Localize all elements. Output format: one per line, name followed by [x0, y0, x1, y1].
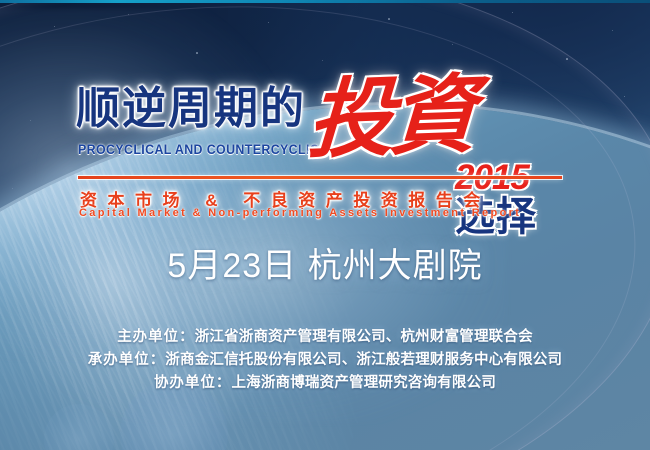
organizer-label: 承办单位：: [88, 352, 166, 368]
main-title: 顺逆周期的: [76, 84, 306, 134]
organizer-row: 主办单位：浙江省浙商资产管理有限公司、杭州财富管理联合会: [0, 326, 650, 349]
calligraphy-title: 投資: [305, 67, 474, 169]
organizer-list: 主办单位：浙江省浙商资产管理有限公司、杭州财富管理联合会 承办单位：浙商金汇信托…: [0, 326, 650, 395]
headline-block: 顺逆周期的 PROCYCLICAL AND COUNTERCYCLICAL 投資…: [0, 78, 650, 170]
organizer-label: 主办单位：: [117, 329, 195, 345]
english-subtitle: PROCYCLICAL AND COUNTERCYCLICAL: [78, 142, 336, 157]
organizer-value: 上海浙商博瑞资产管理研究咨询有限公司: [231, 375, 496, 391]
poster-content: 顺逆周期的 PROCYCLICAL AND COUNTERCYCLICAL 投資…: [0, 0, 650, 450]
organizer-row: 协办单位：上海浙商博瑞资产管理研究咨询有限公司: [0, 372, 650, 395]
subtitle-english: Capital Market & Non-performing Assets I…: [79, 207, 521, 219]
organizer-value: 浙江省浙商资产管理有限公司、杭州财富管理联合会: [195, 329, 533, 345]
organizer-value: 浙商金汇信托股份有限公司、浙江般若理财服务中心有限公司: [165, 352, 562, 368]
event-poster: 顺逆周期的 PROCYCLICAL AND COUNTERCYCLICAL 投資…: [0, 0, 650, 450]
date-venue: 5月23日 杭州大剧院: [0, 244, 650, 288]
red-divider-rule: [78, 176, 562, 179]
organizer-row: 承办单位：浙商金汇信托股份有限公司、浙江般若理财服务中心有限公司: [0, 349, 650, 372]
organizer-label: 协办单位：: [154, 375, 232, 391]
